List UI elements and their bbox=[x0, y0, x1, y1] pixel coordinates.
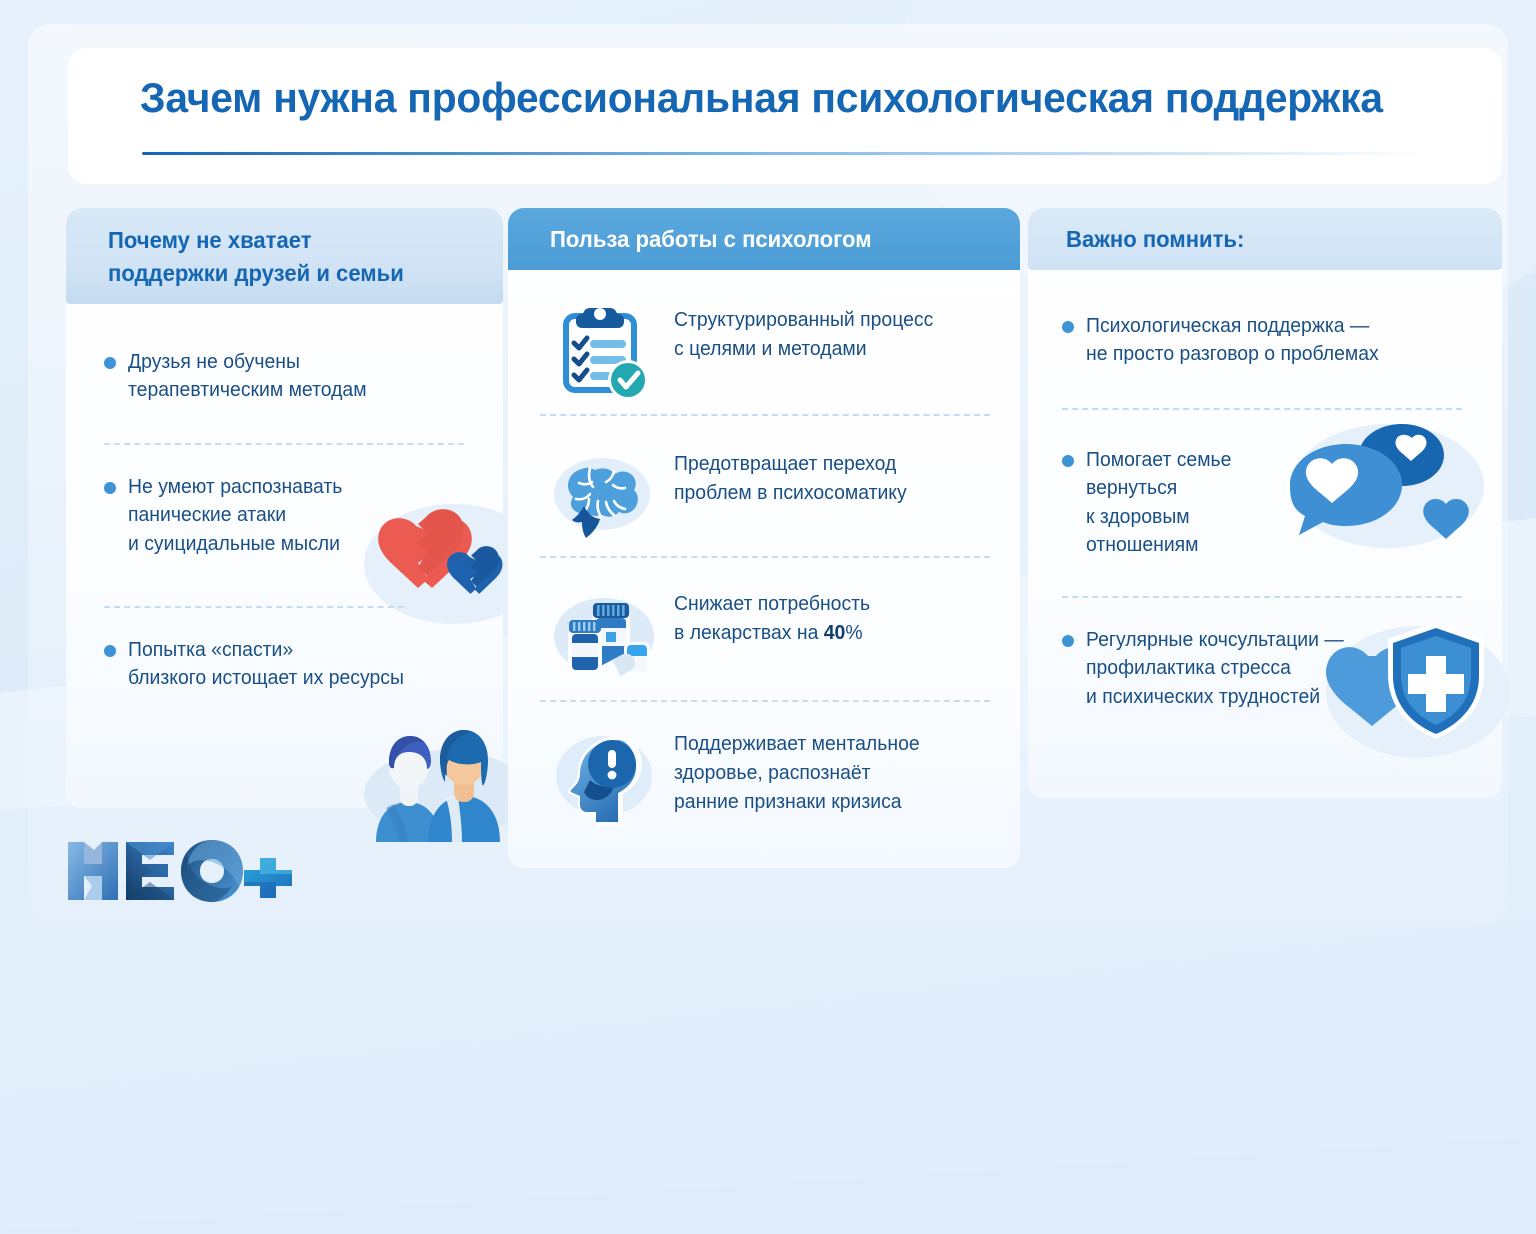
title-card: Зачем нужна профессиональная психологиче… bbox=[68, 48, 1502, 184]
bullet-dot-icon bbox=[1062, 321, 1074, 333]
infographic-panel: Зачем нужна профессиональная психологиче… bbox=[28, 24, 1508, 924]
benefit-label: Снижает потребность в лекарствах на 40% bbox=[674, 584, 870, 648]
divider bbox=[540, 556, 990, 558]
divider bbox=[540, 414, 990, 416]
bullet-dot-icon bbox=[104, 482, 116, 494]
list-item-label: Попытка «спасти» близкого истощает их ре… bbox=[128, 636, 404, 693]
card-right-heading: Важно помнить: bbox=[1066, 226, 1244, 253]
bullet-dot-icon bbox=[104, 645, 116, 657]
bullet-dot-icon bbox=[1062, 455, 1074, 467]
medicine-bottles-icon bbox=[552, 584, 656, 688]
card-right-header: Важно помнить: bbox=[1028, 208, 1502, 270]
list-item-label: Друзья не обучены терапевтическим метода… bbox=[128, 348, 367, 405]
benefit-label: Поддерживает ментальное здоровье, распоз… bbox=[674, 724, 920, 818]
benefit-label: Предотвращает переход проблем в психосом… bbox=[674, 444, 907, 508]
list-item: Психологическая поддержка — не просто ра… bbox=[1062, 312, 1482, 369]
page-title: Зачем нужна профессиональная психологиче… bbox=[140, 74, 1383, 122]
list-item: Регулярные кочсультации — профилактика с… bbox=[1062, 626, 1362, 711]
neo-plus-logo[interactable] bbox=[64, 836, 294, 911]
bullet-dot-icon bbox=[104, 357, 116, 369]
brain-icon bbox=[552, 444, 656, 548]
benefit-item: Снижает потребность в лекарствах на 40% bbox=[552, 584, 992, 688]
clipboard-checklist-icon bbox=[552, 300, 656, 404]
card-left-heading-line1: Почему не хватает bbox=[108, 224, 487, 257]
benefit-label: Структурированный процесс с целями и мет… bbox=[674, 300, 933, 364]
title-underline bbox=[142, 152, 1432, 155]
divider bbox=[1062, 596, 1462, 598]
benefit-label-suffix: % bbox=[845, 622, 862, 644]
bullet-dot-icon bbox=[1062, 635, 1074, 647]
card-mid-heading: Польза работы с психологом bbox=[550, 226, 872, 253]
card-benefits-of-psychologist: Польза работы с психологом bbox=[508, 208, 1020, 868]
couple-people-icon bbox=[354, 716, 534, 846]
divider bbox=[104, 606, 404, 608]
list-item-label: Психологическая поддержка — не просто ра… bbox=[1086, 312, 1379, 369]
benefit-item: Предотвращает переход проблем в психосом… bbox=[552, 444, 992, 548]
list-item: Друзья не обучены терапевтическим метода… bbox=[104, 348, 474, 405]
divider bbox=[104, 443, 464, 445]
card-why-friends-not-enough: Почему не хватает поддержки друзей и сем… bbox=[66, 208, 503, 808]
card-important-to-remember: Важно помнить: Психологическая поддержка… bbox=[1028, 208, 1502, 798]
card-mid-header: Польза работы с психологом bbox=[508, 208, 1020, 270]
list-item: Не умеют распознавать панические атаки и… bbox=[104, 473, 434, 558]
divider bbox=[540, 700, 990, 702]
benefit-item: Структурированный процесс с целями и мет… bbox=[552, 300, 992, 404]
card-left-header: Почему не хватает поддержки друзей и сем… bbox=[66, 208, 503, 304]
card-left-heading-line2: поддержки друзей и семьи bbox=[108, 257, 487, 290]
head-exclamation-icon bbox=[552, 724, 656, 828]
list-item: Попытка «спасти» близкого истощает их ре… bbox=[104, 636, 484, 693]
list-item: Помогает семье вернуться к здоровым отно… bbox=[1062, 446, 1312, 560]
list-item-label: Регулярные кочсультации — профилактика с… bbox=[1086, 626, 1344, 711]
list-item-label: Помогает семье вернуться к здоровым отно… bbox=[1086, 446, 1305, 560]
benefit-value: 40 bbox=[824, 622, 846, 644]
benefit-item: Поддерживает ментальное здоровье, распоз… bbox=[552, 724, 1002, 828]
list-item-label: Не умеют распознавать панические атаки и… bbox=[128, 473, 342, 558]
